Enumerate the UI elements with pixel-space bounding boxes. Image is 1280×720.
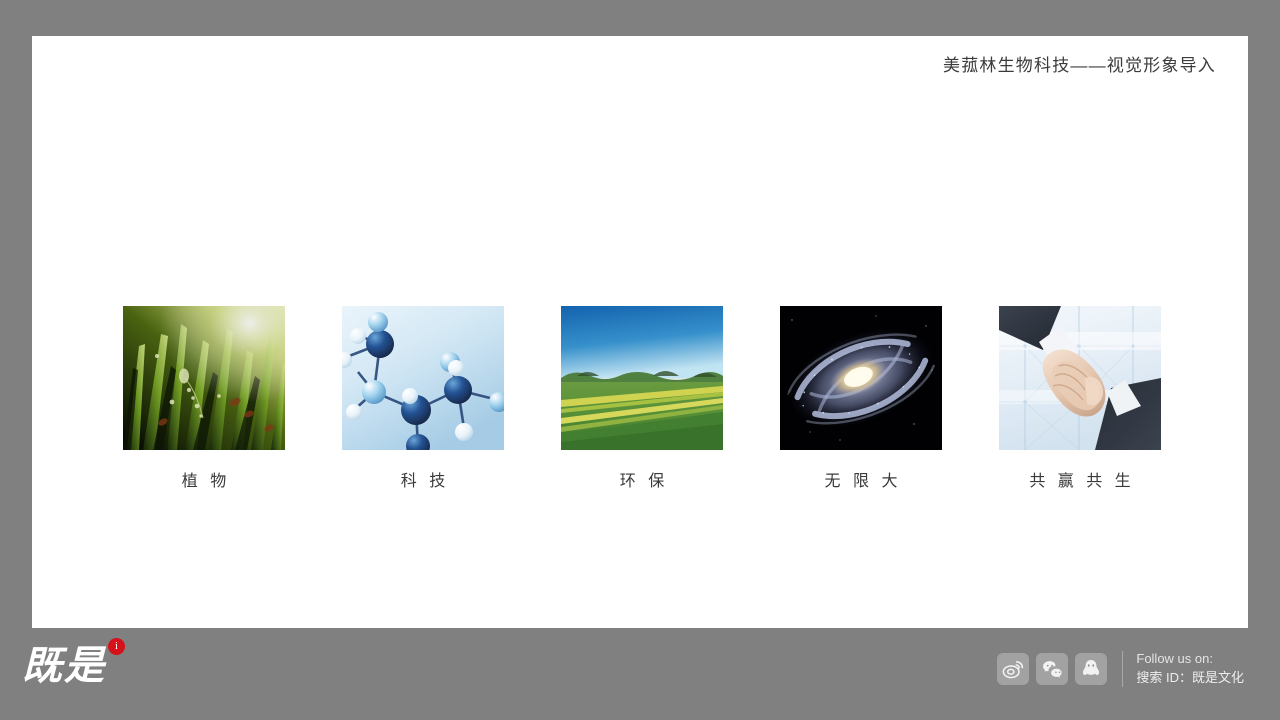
gallery-item-technology[interactable]: 科 技 xyxy=(341,306,505,491)
follow-us-text: Follow us on: 搜索 ID：既是文化 xyxy=(1136,650,1244,688)
qq-icon[interactable] xyxy=(1075,653,1107,685)
gallery-caption-environment: 环 保 xyxy=(616,467,668,491)
thumbnail-infinity[interactable] xyxy=(780,306,942,450)
slide-title: 美菰林生物科技——视觉形象导入 xyxy=(943,51,1216,76)
social-links: Follow us on: 搜索 ID：既是文化 xyxy=(997,650,1244,688)
gallery-item-infinity[interactable]: 无 限 大 xyxy=(779,306,943,491)
follow-us-label: Follow us on: xyxy=(1136,650,1244,669)
slide-canvas: 美菰林生物科技——视觉形象导入 xyxy=(32,36,1248,628)
logo-badge-label: i xyxy=(115,641,118,652)
brand-logo[interactable]: 既是 i xyxy=(22,646,123,686)
footer-bar: 既是 i xyxy=(0,628,1280,720)
search-id-label: 搜索 ID：既是文化 xyxy=(1136,669,1244,688)
thumbnail-plant[interactable] xyxy=(123,306,285,450)
footer-divider xyxy=(1122,651,1123,687)
logo-wordmark: 既是 xyxy=(22,646,106,686)
wechat-icon[interactable] xyxy=(1036,653,1068,685)
image-gallery: 植 物 xyxy=(122,306,1162,491)
gallery-item-plant[interactable]: 植 物 xyxy=(122,306,286,491)
gallery-caption-technology: 科 技 xyxy=(397,467,449,491)
thumbnail-cooperation[interactable] xyxy=(999,306,1161,450)
gallery-caption-cooperation: 共 赢 共 生 xyxy=(1025,467,1134,491)
gallery-caption-infinity: 无 限 大 xyxy=(821,467,902,491)
logo-badge-icon: i xyxy=(108,638,125,655)
thumbnail-environment[interactable] xyxy=(561,306,723,450)
gallery-caption-plant: 植 物 xyxy=(178,467,230,491)
gallery-item-cooperation[interactable]: 共 赢 共 生 xyxy=(998,306,1162,491)
slide-stage: 美菰林生物科技——视觉形象导入 xyxy=(0,0,1280,720)
thumbnail-technology[interactable] xyxy=(342,306,504,450)
gallery-item-environment[interactable]: 环 保 xyxy=(560,306,724,491)
weibo-icon[interactable] xyxy=(997,653,1029,685)
